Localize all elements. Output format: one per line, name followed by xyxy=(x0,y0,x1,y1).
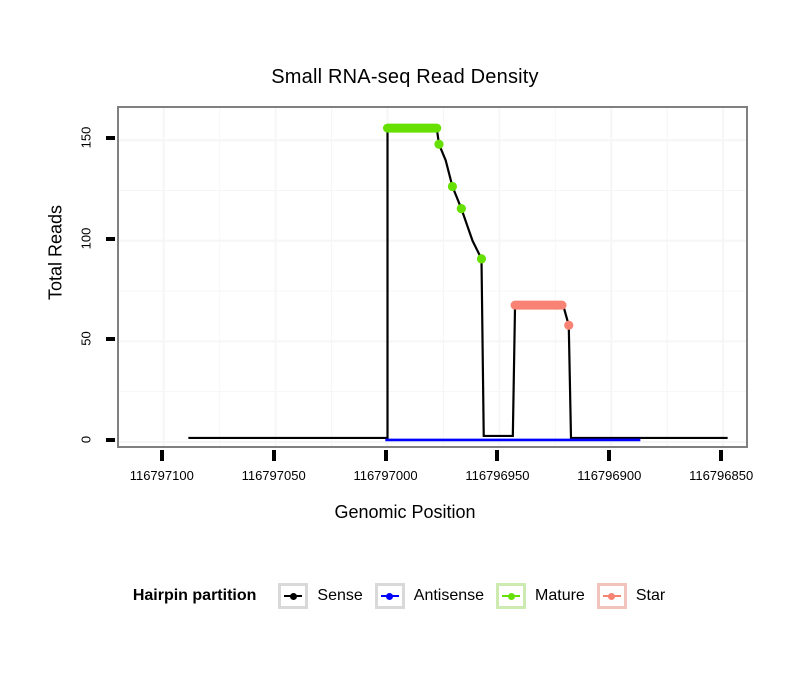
legend-item-label: Antisense xyxy=(414,587,484,605)
legend-item-mature[interactable]: Mature xyxy=(496,583,589,609)
data-point-mature xyxy=(434,140,443,149)
chart-figure: Small RNA-seq Read Density Total Reads G… xyxy=(0,0,810,690)
legend-item-label: Mature xyxy=(535,587,585,605)
legend-title: Hairpin partition xyxy=(133,587,257,605)
plot-area xyxy=(119,108,748,448)
data-point-mature xyxy=(477,254,486,263)
legend-key-icon xyxy=(496,583,526,609)
legend-key-icon xyxy=(278,583,308,609)
page-title: Small RNA-seq Read Density xyxy=(0,66,810,89)
x-axis-tick-mark xyxy=(719,450,723,461)
legend-items: SenseAntisenseMatureStar xyxy=(278,583,677,609)
x-axis-tick-mark xyxy=(272,450,276,461)
legend-key-icon xyxy=(375,583,405,609)
x-axis-tick-mark xyxy=(607,450,611,461)
legend-key-dot xyxy=(290,593,297,600)
x-axis-tick-label: 116796900 xyxy=(577,468,641,483)
x-axis-tick-mark xyxy=(384,450,388,461)
x-axis-tick-label: 116796850 xyxy=(689,468,753,483)
legend-key-dot xyxy=(508,593,515,600)
y-axis-tick-label: 100 xyxy=(79,221,94,255)
legend: Hairpin partition SenseAntisenseMatureSt… xyxy=(0,578,810,614)
legend-item-sense[interactable]: Sense xyxy=(278,583,366,609)
x-axis-tick-mark xyxy=(160,450,164,461)
y-axis-tick-label: 0 xyxy=(79,422,94,456)
legend-key-dot xyxy=(608,593,615,600)
legend-item-antisense[interactable]: Antisense xyxy=(375,583,488,609)
y-axis-tick-mark xyxy=(106,237,115,241)
data-point-mature xyxy=(448,182,457,191)
y-axis-tick-label: 150 xyxy=(79,121,94,155)
data-point-star xyxy=(564,321,573,330)
y-axis-tick-label: 50 xyxy=(79,322,94,356)
legend-item-label: Star xyxy=(636,587,665,605)
y-axis-tick-mark xyxy=(106,438,115,442)
data-point-mature xyxy=(457,204,466,213)
legend-item-label: Sense xyxy=(317,587,362,605)
y-axis-label: Total Reads xyxy=(46,173,67,333)
x-axis-tick-label: 116797050 xyxy=(242,468,306,483)
legend-key-icon xyxy=(597,583,627,609)
legend-item-star[interactable]: Star xyxy=(597,583,669,609)
plot-panel xyxy=(117,106,748,448)
x-axis-label: Genomic Position xyxy=(0,502,810,523)
legend-key-dot xyxy=(386,593,393,600)
x-axis-tick-label: 116797000 xyxy=(353,468,417,483)
x-axis-tick-label: 116797100 xyxy=(130,468,194,483)
x-axis-tick-label: 116796950 xyxy=(465,468,529,483)
y-axis-tick-mark xyxy=(106,337,115,341)
y-axis-tick-mark xyxy=(106,136,115,140)
x-axis-tick-mark xyxy=(495,450,499,461)
